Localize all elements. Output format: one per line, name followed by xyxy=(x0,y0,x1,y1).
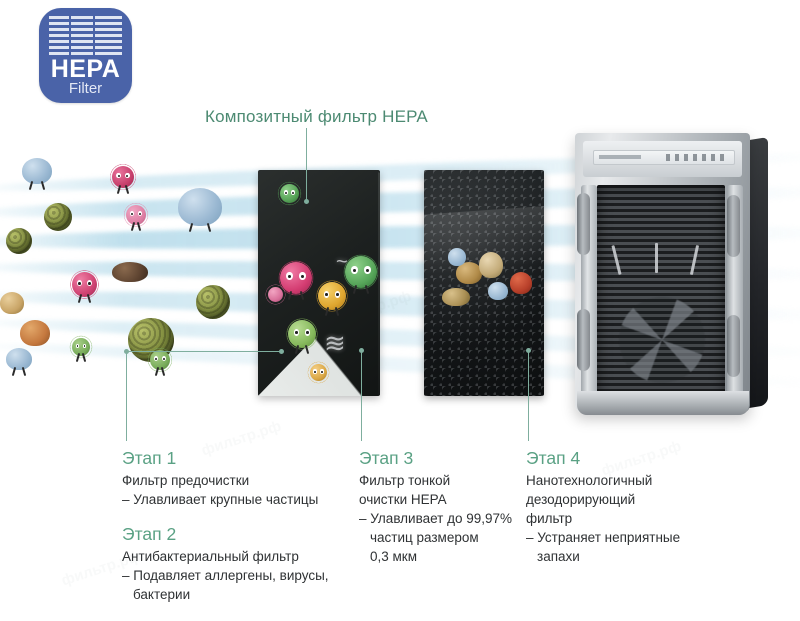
step-4-block: Этап 4 Нанотехнологичный дезодорирующий … xyxy=(526,447,716,566)
virus-germ-icon xyxy=(112,166,134,188)
handle-right xyxy=(727,195,740,257)
step-3-line-3: – Улавливает до 99,97% xyxy=(359,509,534,528)
step-1-line-2: – Улавливает крупные частицы xyxy=(122,490,352,509)
step-4-line-1: Нанотехнологичный xyxy=(526,471,716,490)
mold-germ-icon xyxy=(72,338,90,356)
handle-right-lower xyxy=(727,315,740,377)
odor-particle-icon xyxy=(442,288,470,306)
pollen-particle-icon xyxy=(196,285,230,319)
handle-left-lower xyxy=(577,309,590,371)
step-3-line-4: частиц размером xyxy=(359,528,534,547)
bacteria-germ-icon xyxy=(126,205,146,225)
step-1-block: Этап 1 Фильтр предочистки – Улавливает к… xyxy=(122,447,352,509)
step-4-line-4: – Устраняет неприятные xyxy=(526,528,716,547)
step-2-line-3: бактерии xyxy=(122,585,362,604)
page-title: Композитный фильтр HEPA xyxy=(205,107,428,127)
pollen-germ-icon xyxy=(318,282,346,310)
handle-left xyxy=(577,193,590,255)
hepa-fine-filter-panel xyxy=(424,170,544,396)
illustration-canvas: фильтр.рф фильтр.рф фильтр.рф фильтр.рф xyxy=(0,0,800,621)
mold-germ-icon xyxy=(345,256,377,288)
step-2-line-1: Антибактериальный фильтр xyxy=(122,547,362,566)
dust-germ-icon xyxy=(178,188,222,226)
step-2-line-2: – Подавляет аллергены, вирусы, xyxy=(122,566,362,585)
dust-germ-icon xyxy=(6,348,32,370)
control-panel xyxy=(593,150,735,165)
step-1-line-1: Фильтр предочистки xyxy=(122,471,352,490)
step-1-heading: Этап 1 xyxy=(122,447,352,469)
odor-smoke-icon: ≋ xyxy=(324,330,346,356)
step-4-heading: Этап 4 xyxy=(526,447,716,469)
step-3-block: Этап 3 Фильтр тонкой очистки HEPA – Улав… xyxy=(359,447,534,566)
bacteria-germ-icon xyxy=(268,287,283,302)
step-3-heading: Этап 3 xyxy=(359,447,534,469)
step-4-line-3: фильтр xyxy=(526,509,716,528)
hepa-filter-logo: HEPA Filter xyxy=(39,8,132,103)
dust-mite-icon xyxy=(0,292,24,314)
mold-germ-icon xyxy=(150,350,170,370)
virus-germ-icon xyxy=(72,272,97,297)
mold-germ-icon xyxy=(280,184,299,203)
step-4-line-5: запахи xyxy=(526,547,716,566)
dust-mite-icon xyxy=(20,320,50,346)
step-3-line-2: очистки HEPA xyxy=(359,490,534,509)
air-purifier-unit xyxy=(575,133,768,416)
dust-germ-icon xyxy=(22,158,52,184)
odor-smoke-icon xyxy=(488,282,508,300)
odor-smoke-icon xyxy=(448,248,466,266)
step-4-line-2: дезодорирующий xyxy=(526,490,716,509)
bacteria-germ-icon xyxy=(288,320,316,348)
filter-grille-icon xyxy=(49,16,122,56)
odor-particle-icon xyxy=(510,272,532,294)
pollen-particle-icon xyxy=(6,228,32,254)
pollen-germ-icon xyxy=(310,364,327,381)
step-3-line-5: 0,3 мкм xyxy=(359,547,534,566)
hepa-logo-subtitle: Filter xyxy=(39,80,132,97)
step-2-block: Этап 2 Антибактериальный фильтр – Подавл… xyxy=(122,523,362,604)
step-2-heading: Этап 2 xyxy=(122,523,362,545)
front-grille xyxy=(597,185,725,397)
pollen-particle-icon xyxy=(44,203,72,231)
dust-mite-icon xyxy=(112,262,148,282)
odor-smoke-icon: ~ xyxy=(336,252,348,272)
step-3-line-1: Фильтр тонкой xyxy=(359,471,534,490)
odor-particle-icon xyxy=(479,252,503,278)
fan-icon xyxy=(619,297,705,383)
